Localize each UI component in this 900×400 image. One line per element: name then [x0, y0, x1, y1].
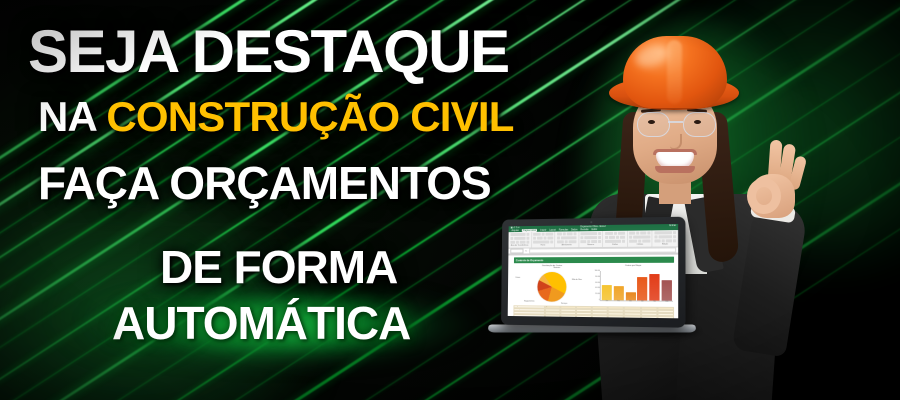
ribbon-button[interactable] — [629, 240, 637, 243]
ribbon-button[interactable] — [598, 236, 601, 239]
ribbon-button[interactable] — [581, 240, 587, 243]
bar-4 — [649, 274, 659, 301]
pie-slice-label-2: Serviços — [561, 303, 567, 305]
headline-line-1: SEJA DESTAQUE — [28, 22, 509, 82]
excel-formula-input[interactable] — [529, 247, 676, 253]
promo-banner: SEJA DESTAQUE NA CONSTRUÇÃO CIVIL FAÇA O… — [0, 0, 900, 400]
headline-line-3: FAÇA ORÇAMENTOS — [38, 160, 491, 206]
ribbon-button[interactable] — [510, 233, 526, 236]
ribbon-button[interactable] — [616, 236, 619, 239]
ribbon-button[interactable] — [622, 240, 625, 243]
ribbon-button[interactable] — [661, 239, 664, 242]
ribbon-button[interactable] — [550, 240, 553, 243]
ok-hand-icon — [741, 136, 807, 220]
table-cell[interactable]: Alvenaria — [513, 314, 544, 317]
x-tick-5: Total — [661, 302, 672, 306]
eyeglass-lens-left — [637, 112, 670, 137]
table-cell[interactable]: 21.300 — [560, 318, 576, 319]
ribbon-button[interactable] — [640, 231, 646, 234]
ribbon-button[interactable] — [527, 237, 530, 240]
ribbon-button[interactable] — [654, 235, 657, 238]
headline-line-2-gold: CONSTRUÇÃO CIVIL — [106, 93, 513, 140]
ribbon-button[interactable] — [569, 240, 577, 243]
bar-2 — [625, 292, 635, 300]
ribbon-button[interactable] — [605, 240, 622, 243]
ribbon-group-label: Edição — [654, 243, 675, 245]
bar-3 — [637, 277, 647, 300]
table-cell[interactable]: 3.600 — [592, 315, 608, 318]
ribbon-button[interactable] — [567, 232, 573, 235]
ribbon-button[interactable] — [510, 241, 515, 244]
ribbon-button[interactable] — [629, 236, 632, 239]
eyeglass-lens-right — [683, 112, 716, 137]
x-tick-3: Abr — [637, 301, 647, 305]
webcam-icon — [590, 221, 592, 223]
pie-chart[interactable]: Distribuição de Custos MateriaisMão de O… — [514, 265, 592, 305]
headline-line-2-white: NA — [38, 93, 106, 140]
pie-slice-label-0: Materiais — [554, 267, 561, 269]
ribbon-button[interactable] — [673, 235, 676, 238]
ribbon-button[interactable] — [527, 233, 530, 236]
ribbon-button[interactable] — [647, 231, 650, 234]
bar-chart[interactable]: Custos por Etapa 100.00080.00060.00040.0… — [593, 265, 674, 306]
headline-line-5-automatica: AUTOMÁTICA — [112, 300, 410, 346]
ribbon-button[interactable] — [633, 235, 650, 238]
excel-name-box[interactable] — [510, 249, 523, 254]
ribbon-button[interactable] — [543, 237, 546, 240]
ribbon-group-label: Estilos — [605, 244, 626, 246]
ribbon-button[interactable] — [654, 231, 671, 234]
table-cell[interactable]: 16.800 — [657, 316, 674, 318]
ribbon-group-label: Número — [581, 244, 601, 246]
ribbon-button[interactable] — [609, 236, 615, 239]
ribbon-button[interactable] — [520, 241, 526, 244]
charts-area: Distribuição de Custos MateriaisMão de O… — [508, 264, 678, 306]
function-icon[interactable]: fx — [525, 250, 527, 252]
headline-line-4: DE FORMA — [160, 244, 397, 290]
pie-slice-label-1: Mão de Obra — [572, 279, 582, 281]
laptop-lid: ▣ ↺ ↻ ▾ Orçamento Obra - Excel Entrar Ar… — [501, 217, 685, 328]
ribbon-group-0[interactable]: Área de Transferência — [508, 232, 531, 248]
ribbon-group-2[interactable]: Alinhamento — [555, 231, 579, 247]
ribbon-button[interactable] — [581, 232, 597, 235]
ribbon-button[interactable] — [533, 237, 536, 240]
table-cell[interactable]: Instalações — [513, 317, 544, 318]
ribbon-button[interactable] — [533, 233, 540, 236]
ribbon-button[interactable] — [605, 232, 613, 235]
ribbon-button[interactable] — [557, 240, 565, 243]
ribbon-button[interactable] — [516, 241, 519, 244]
excel-ribbon[interactable]: Área de TransferênciaFonteAlinhamentoNúm… — [508, 230, 678, 249]
bar-0 — [602, 285, 612, 300]
sheet-title-text: Controle de Orçamento — [516, 259, 543, 262]
hard-hat-ridge — [667, 40, 682, 104]
laptop-screen: ▣ ↺ ↻ ▾ Orçamento Obra - Excel Entrar Ar… — [508, 224, 678, 318]
table-cell[interactable]: 3.900 — [608, 315, 624, 318]
table-cell[interactable]: 3.000 — [641, 316, 658, 319]
table-cell[interactable]: 1 — [544, 314, 560, 317]
table-cell[interactable]: 3.100 — [576, 315, 592, 318]
ribbon-button[interactable] — [542, 233, 545, 236]
excel-worksheet[interactable]: Controle de Orçamento Distribuição de Cu… — [508, 255, 678, 319]
x-tick-4: Mai — [649, 302, 659, 306]
bar-chart-x-axis-labels: JanFevMarAbrMaiTotal — [601, 301, 673, 306]
sheet-title-banner: Controle de Orçamento — [514, 257, 674, 264]
ribbon-button[interactable] — [642, 240, 650, 243]
ribbon-button[interactable] — [574, 232, 577, 235]
ribbon-button[interactable] — [659, 235, 672, 238]
ribbon-button[interactable] — [545, 233, 553, 236]
ok-gesture-ring — [747, 178, 781, 214]
ribbon-button[interactable] — [598, 232, 601, 235]
ribbon-button[interactable] — [557, 232, 563, 235]
ribbon-group-5[interactable]: Células — [628, 230, 653, 246]
ribbon-button[interactable] — [537, 237, 543, 240]
ribbon-group-label: Fonte — [533, 244, 553, 246]
ribbon-button[interactable] — [585, 236, 597, 239]
pie-slice-label-3: Equipamentos — [524, 300, 534, 302]
ribbon-button[interactable] — [526, 241, 529, 244]
table-cell[interactable]: 3.200 — [624, 316, 640, 319]
ribbon-button[interactable] — [673, 231, 676, 234]
ribbon-button[interactable] — [654, 239, 660, 242]
ribbon-button[interactable] — [557, 236, 560, 239]
ribbon-button[interactable] — [565, 240, 568, 243]
table-cell[interactable]: 1 — [544, 317, 560, 318]
bar-chart-title: Custos por Etapa — [593, 265, 674, 267]
eyeglass-bridge — [668, 121, 683, 123]
ribbon-group-6[interactable]: Edição — [653, 230, 678, 247]
bar-5 — [661, 280, 672, 300]
worksheet-data-table[interactable]: EtapaQtdUnit.JanFevMarAbrMaiTotalFundaçã… — [513, 305, 674, 318]
ribbon-button[interactable] — [581, 236, 584, 239]
x-tick-1: Fev — [614, 301, 624, 305]
eyeglasses-icon — [633, 112, 719, 136]
pie-chart-slices — [537, 272, 566, 302]
ribbon-button[interactable] — [629, 232, 635, 235]
ribbon-group-1[interactable]: Fonte — [532, 232, 556, 248]
bar-1 — [614, 286, 624, 300]
ribbon-button[interactable] — [636, 232, 639, 235]
ribbon-group-4[interactable]: Estilos — [603, 231, 628, 247]
ribbon-button[interactable] — [591, 240, 597, 243]
ribbon-button[interactable] — [598, 240, 601, 243]
eye-right — [694, 120, 701, 124]
ribbon-group-label: Área de Transferência — [510, 245, 529, 247]
ribbon-button[interactable] — [563, 232, 566, 235]
lower-lip — [655, 166, 695, 173]
x-tick-2: Mar — [625, 301, 635, 305]
ribbon-button[interactable] — [620, 236, 626, 239]
ribbon-button[interactable] — [638, 240, 641, 243]
ribbon-button[interactable] — [673, 239, 676, 242]
ribbon-group-3[interactable]: Número — [579, 231, 603, 247]
ribbon-button[interactable] — [666, 239, 672, 242]
ribbon-button[interactable] — [614, 232, 617, 235]
laptop: ▣ ↺ ↻ ▾ Orçamento Obra - Excel Entrar Ar… — [488, 218, 696, 346]
ribbon-button[interactable] — [533, 240, 549, 243]
ribbon-button[interactable] — [618, 232, 626, 235]
x-tick-0: Jan — [602, 301, 612, 305]
headline-line-2: NA CONSTRUÇÃO CIVIL — [38, 96, 514, 138]
pie-slice-label-4: Outros — [515, 277, 520, 279]
ribbon-button[interactable] — [605, 236, 608, 239]
eye-left — [648, 120, 655, 124]
pie-chart-title: Distribuição de Custos — [514, 265, 591, 267]
ribbon-group-label: Alinhamento — [557, 244, 577, 246]
table-cell[interactable]: 16.800 — [560, 315, 576, 318]
ribbon-group-label: Células — [629, 244, 650, 246]
ribbon-button[interactable] — [587, 240, 590, 243]
ribbon-button[interactable] — [510, 237, 513, 240]
ribbon-button[interactable] — [547, 237, 553, 240]
ribbon-button[interactable] — [514, 237, 526, 240]
bar-chart-bars — [600, 271, 673, 302]
ribbon-button[interactable] — [561, 236, 577, 239]
